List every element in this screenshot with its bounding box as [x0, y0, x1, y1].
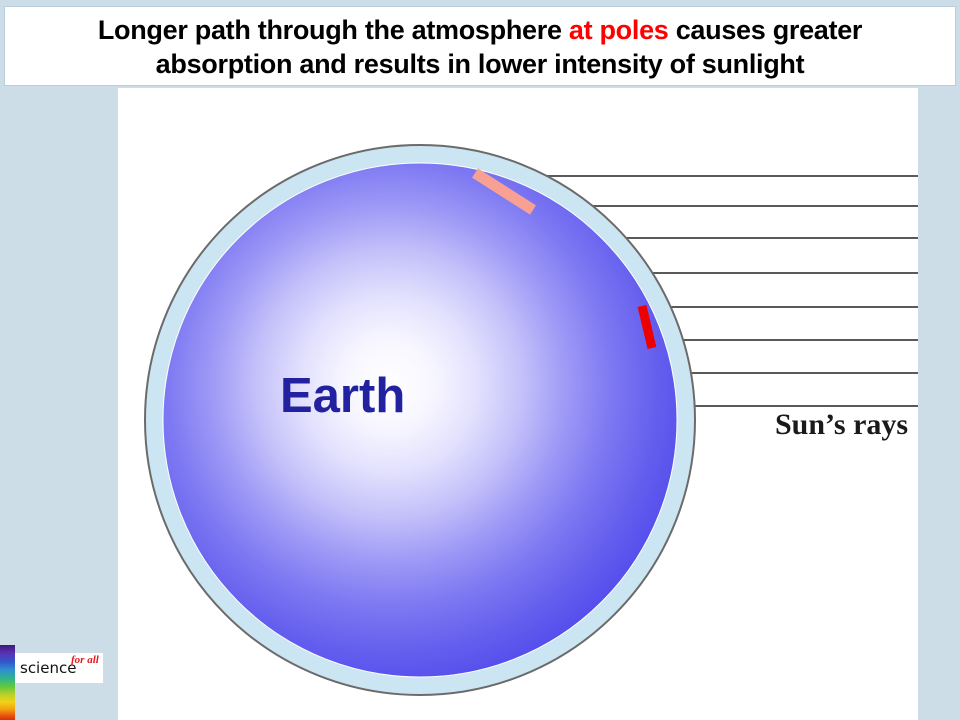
logo-block: science for all: [0, 645, 118, 720]
logo-word-for-all: for all: [71, 654, 99, 666]
title-banner: Longer path through the atmosphere at po…: [4, 6, 956, 86]
earth-label: Earth: [280, 368, 405, 424]
spectrum-bar-icon: [0, 645, 15, 720]
earth-atmosphere-diagram: [118, 88, 918, 720]
slide-background: Longer path through the atmosphere at po…: [0, 0, 960, 720]
logo-word-science: science: [20, 659, 76, 677]
title-line-2: absorption and results in lower intensit…: [156, 47, 805, 81]
earth-sphere: [163, 163, 677, 677]
diagram-canvas: Earth Sun’s rays: [118, 88, 918, 720]
title-text-before-highlight: Longer path through the atmosphere: [98, 15, 569, 45]
title-text-after-highlight: causes greater: [669, 15, 863, 45]
title-highlight-at-poles: at poles: [569, 15, 669, 45]
title-line-1: Longer path through the atmosphere at po…: [98, 13, 862, 47]
logo-card: science for all: [15, 653, 103, 683]
sun-rays-label: Sun’s rays: [775, 408, 908, 442]
